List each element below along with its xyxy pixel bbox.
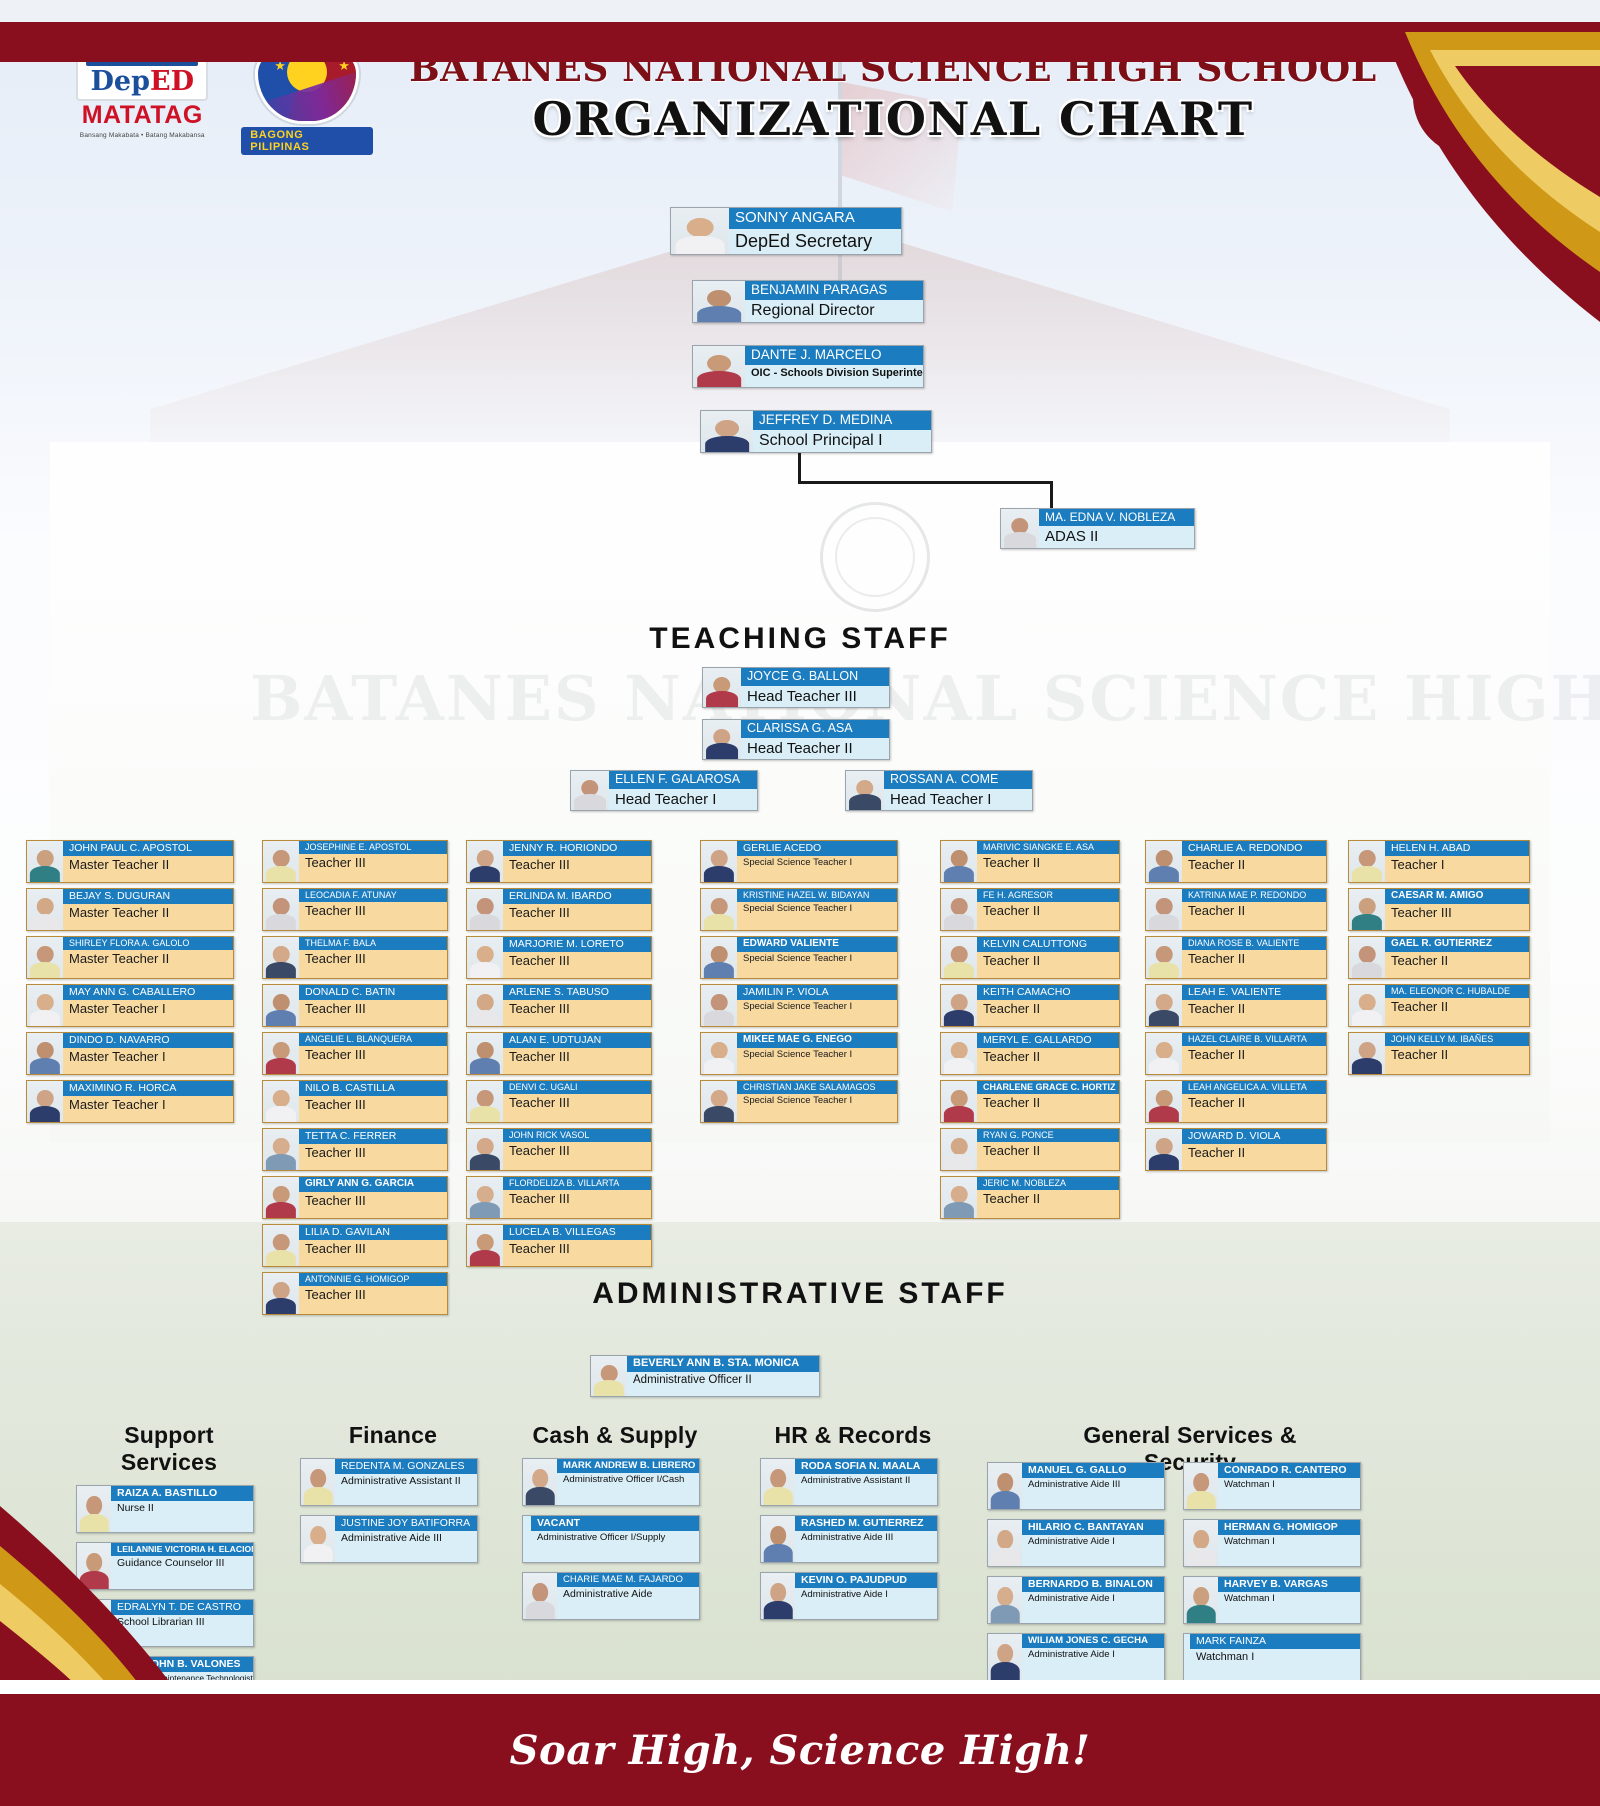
admin-card[interactable]: MARK ANDREW B. LIBRERO Administrative Of…: [522, 1458, 700, 1506]
node-name: KATRINA MAE P. REDONDO: [1182, 889, 1326, 902]
avatar: [263, 1081, 299, 1122]
node-role: Teacher II: [1182, 902, 1326, 921]
admin-card-vacant[interactable]: VACANT Administrative Officer I/Supply: [522, 1515, 700, 1563]
matatag-tagline: Bansang Makabata • Batang Makabansa: [80, 132, 205, 139]
node-name: BEVERLY ANN B. STA. MONICA: [627, 1356, 819, 1372]
node-role: OIC - Schools Division Superintendent: [745, 365, 923, 381]
avatar: [693, 281, 745, 322]
avatar: [701, 411, 753, 452]
admin-card[interactable]: WILIAM JONES C. GECHA Administrative Aid…: [987, 1633, 1165, 1681]
avatar: [941, 841, 977, 882]
node-role: Teacher II: [1182, 1000, 1326, 1019]
node-role: Head Teacher I: [884, 789, 1032, 810]
node-role: School Librarian III: [111, 1615, 253, 1631]
node-name: MERYL E. GALLARDO: [977, 1033, 1119, 1048]
avatar: [1146, 1033, 1182, 1074]
node-role: Administrative Aide I: [1022, 1592, 1164, 1606]
org-node-adas-ii[interactable]: MA. EDNA V. NOBLEZA ADAS II: [1000, 508, 1195, 549]
node-role: Teacher II: [977, 952, 1119, 971]
avatar: [27, 1033, 63, 1074]
teacher-card[interactable]: BEJAY S. DUGURAN Master Teacher II: [26, 888, 234, 931]
node-role: Teacher III: [299, 1096, 447, 1115]
node-name: DENVI C. UGALI: [503, 1081, 651, 1094]
node-role: Teacher II: [977, 854, 1119, 873]
node-role: School Principal I: [753, 430, 931, 452]
node-name: HELEN H. ABAD: [1385, 841, 1529, 856]
org-node-school-principal[interactable]: JEFFREY D. MEDINA School Principal I: [700, 410, 932, 453]
teacher-card[interactable]: DENVI C. UGALI Teacher III: [466, 1080, 652, 1123]
group-title: Cash & Supply: [522, 1422, 708, 1449]
node-name: KRISTINE HAZEL W. BIDAYAN: [737, 889, 897, 902]
node-role: Teacher III: [299, 902, 447, 921]
node-name: ERLINDA M. IBARDO: [503, 889, 651, 904]
avatar: [988, 1520, 1022, 1566]
node-name: JOHN PAUL C. APOSTOL: [63, 841, 233, 856]
node-name: JENNY R. HORIONDO: [503, 841, 651, 856]
admin-group-hr-records: HR & Records RODA SOFIA N. MAALA Adminis…: [760, 1422, 946, 1620]
avatar: [467, 841, 503, 882]
avatar: [523, 1573, 557, 1619]
admin-group-general-services-col1: MANUEL G. GALLO Administrative Aide III …: [987, 1462, 1173, 1681]
top-ribbon-bar: [0, 22, 1600, 62]
node-role: Teacher III: [299, 1144, 447, 1163]
teacher-card[interactable]: KEITH CAMACHO Teacher II: [940, 984, 1120, 1027]
avatar: [27, 985, 63, 1026]
header-titles: BATANES NATIONAL SCIENCE HIGH SCHOOL ORG…: [399, 48, 1386, 146]
node-name: MARIVIC SIANGKE E. ASA: [977, 841, 1119, 854]
avatar: [846, 771, 884, 810]
node-name: ERIC JOHN B. VALONES: [111, 1657, 253, 1672]
avatar: [27, 889, 63, 930]
node-role: Teacher III: [299, 1046, 447, 1065]
node-role: DepEd Secretary: [729, 229, 901, 254]
avatar: [701, 985, 737, 1026]
teacher-column-teacher-iii-a: JOSEPHINE E. APOSTOL Teacher III LEOCADI…: [262, 840, 448, 1315]
teacher-card[interactable]: MERYL E. GALLARDO Teacher II: [940, 1032, 1120, 1075]
node-name: HERMAN G. HOMIGOP: [1218, 1520, 1360, 1535]
node-name: TETTA C. FERRER: [299, 1129, 447, 1144]
node-role: Master Teacher I: [63, 1096, 233, 1115]
node-name: JEFFREY D. MEDINA: [753, 411, 931, 430]
org-node-administrative-officer-ii[interactable]: BEVERLY ANN B. STA. MONICA Administrativ…: [590, 1355, 820, 1397]
node-role: Teacher III: [299, 854, 447, 873]
connector-principal-vertical: [798, 453, 801, 483]
node-name: CAESAR M. AMIGO: [1385, 889, 1529, 904]
node-role: Teacher II: [1182, 1046, 1326, 1065]
avatar: [701, 889, 737, 930]
node-role: Teacher III: [503, 856, 651, 875]
avatar: [1184, 1520, 1218, 1566]
avatar: [701, 937, 737, 978]
teacher-card[interactable]: JOSEPHINE E. APOSTOL Teacher III: [262, 840, 448, 883]
node-name: CHRISTIAN JAKE SALAMAGOS: [737, 1081, 897, 1094]
teacher-card[interactable]: ARLENE S. TABUSO Teacher III: [466, 984, 652, 1027]
node-role: Master Teacher II: [63, 950, 233, 969]
admin-card[interactable]: RAIZA A. BASTILLO Nurse II: [76, 1485, 254, 1533]
teacher-card[interactable]: JOHN RICK VASOL Teacher III: [466, 1128, 652, 1171]
node-role: Watchman I: [1190, 1649, 1360, 1665]
page-title: ORGANIZATIONAL CHART: [409, 92, 1376, 146]
admin-card[interactable]: MANUEL G. GALLO Administrative Aide III: [987, 1462, 1165, 1510]
avatar: [77, 1543, 111, 1589]
avatar: [263, 937, 299, 978]
node-role: Administrative Assistant II: [795, 1474, 937, 1488]
bagong-pilipinas-label: BAGONG PILIPINAS: [241, 127, 373, 155]
avatar: [467, 1177, 503, 1218]
node-role: Administrative Aide I: [1022, 1535, 1164, 1549]
teacher-card[interactable]: ALAN E. UDTUJAN Teacher III: [466, 1032, 652, 1075]
teacher-card[interactable]: CHARLIE A. REDONDO Teacher II: [1145, 840, 1327, 883]
teacher-column-teacher-iii-b: JENNY R. HORIONDO Teacher III ERLINDA M.…: [466, 840, 652, 1267]
teacher-card[interactable]: TETTA C. FERRER Teacher III: [262, 1128, 448, 1171]
teacher-card[interactable]: MIKEE MAE G. ENEGO Special Science Teach…: [700, 1032, 898, 1075]
node-name: SHIRLEY FLORA A. GALOLO: [63, 937, 233, 950]
node-name: RASHED M. GUTIERREZ: [795, 1516, 937, 1531]
node-name: JAMILIN P. VIOLA: [737, 985, 897, 1000]
teacher-card[interactable]: CHARLENE GRACE C. HORTIZ Teacher II: [940, 1080, 1120, 1123]
node-name: EDRALYN T. DE CASTRO: [111, 1600, 253, 1615]
teacher-card[interactable]: THELMA F. BALA Teacher III: [262, 936, 448, 979]
avatar: [263, 889, 299, 930]
node-role: Regional Director: [745, 300, 923, 322]
org-node-head-teacher-i-come[interactable]: ROSSAN A. COME Head Teacher I: [845, 770, 1033, 811]
avatar: [1001, 509, 1039, 548]
teacher-card[interactable]: MA. ELEONOR C. HUBALDE Teacher II: [1348, 984, 1530, 1027]
node-role: Special Science Teacher I: [737, 1000, 897, 1014]
teacher-card[interactable]: GIRLY ANN G. GARCIA Teacher III: [262, 1176, 448, 1219]
node-role: Administrative Officer II: [627, 1372, 819, 1389]
avatar: [523, 1459, 557, 1505]
node-name: MARK ANDREW B. LIBRERO: [557, 1459, 699, 1473]
avatar: [263, 1033, 299, 1074]
teacher-card[interactable]: KATRINA MAE P. REDONDO Teacher II: [1145, 888, 1327, 931]
node-role: Administrative Aide III: [1022, 1478, 1164, 1492]
admin-card[interactable]: HARVEY B. VARGAS Watchman I: [1183, 1576, 1361, 1624]
teacher-card[interactable]: HELEN H. ABAD Teacher I: [1348, 840, 1530, 883]
node-name: LUCELA B. VILLEGAS: [503, 1225, 651, 1240]
administrative-staff-section-title: ADMINISTRATIVE STAFF: [0, 1277, 1600, 1311]
teacher-card[interactable]: MARJORIE M. LORETO Teacher III: [466, 936, 652, 979]
school-motto: Soar High, Science High!: [510, 1727, 1091, 1774]
node-role: Administrative Aide: [557, 1587, 699, 1603]
avatar: [1146, 889, 1182, 930]
node-role: Teacher III: [503, 1048, 651, 1067]
node-role: Special Science Teacher I: [737, 856, 897, 870]
footer-white-strip: [0, 1680, 1600, 1694]
teacher-card[interactable]: JENNY R. HORIONDO Teacher III: [466, 840, 652, 883]
node-name: DANTE J. MARCELO: [745, 346, 923, 365]
teacher-card[interactable]: CAESAR M. AMIGO Teacher III: [1348, 888, 1530, 931]
teacher-card[interactable]: JOHN KELLY M. IBAÑES Teacher II: [1348, 1032, 1530, 1075]
teacher-card[interactable]: SHIRLEY FLORA A. GALOLO Master Teacher I…: [26, 936, 234, 979]
teacher-card[interactable]: FLORDELIZA B. VILLARTA Teacher III: [466, 1176, 652, 1219]
org-node-head-teacher-ii[interactable]: CLARISSA G. ASA Head Teacher II: [702, 719, 890, 760]
node-name: KEITH CAMACHO: [977, 985, 1119, 1000]
node-name: JOWARD D. VIOLA: [1182, 1129, 1326, 1144]
node-name: HARVEY B. VARGAS: [1218, 1577, 1360, 1592]
node-name: NILO B. CASTILLA: [299, 1081, 447, 1096]
teacher-column-teacher-ii-b: CHARLIE A. REDONDO Teacher II KATRINA MA…: [1145, 840, 1327, 1171]
node-name: DINDO D. NAVARRO: [63, 1033, 233, 1048]
node-role: Head Teacher III: [741, 686, 889, 707]
node-name: HAZEL CLAIRE B. VILLARTA: [1182, 1033, 1326, 1046]
admin-card[interactable]: KEVIN O. PAJUDPUD Administrative Aide I: [760, 1572, 938, 1620]
node-name: JERIC M. NOBLEZA: [977, 1177, 1119, 1190]
avatar: [941, 1129, 977, 1170]
background-seal-watermark: [820, 502, 930, 612]
admin-card[interactable]: HILARIO C. BANTAYAN Administrative Aide …: [987, 1519, 1165, 1567]
avatar: [671, 208, 729, 254]
deped-logo-dep-text: Dep: [91, 66, 150, 97]
group-title: HR & Records: [760, 1422, 946, 1449]
avatar: [467, 1033, 503, 1074]
node-name: DONALD C. BATIN: [299, 985, 447, 1000]
node-name: MA. EDNA V. NOBLEZA: [1039, 509, 1194, 526]
node-role: Teacher III: [503, 1094, 651, 1113]
teacher-column-master-teachers: JOHN PAUL C. APOSTOL Master Teacher II B…: [26, 840, 234, 1123]
node-role: Administrative Assistant II: [335, 1474, 477, 1490]
node-name: ALAN E. UDTUJAN: [503, 1033, 651, 1048]
node-name: BERNARDO B. BINALON: [1022, 1577, 1164, 1592]
admin-card[interactable]: RASHED M. GUTIERREZ Administrative Aide …: [760, 1515, 938, 1563]
node-role: ADAS II: [1039, 526, 1194, 548]
teacher-card[interactable]: JOWARD D. VIOLA Teacher II: [1145, 1128, 1327, 1171]
node-name: JOHN RICK VASOL: [503, 1129, 651, 1142]
teacher-card[interactable]: LEAH ANGELICA A. VILLETA Teacher II: [1145, 1080, 1327, 1123]
teacher-card[interactable]: KELVIN CALUTTONG Teacher II: [940, 936, 1120, 979]
teacher-card[interactable]: ERLINDA M. IBARDO Teacher III: [466, 888, 652, 931]
node-name: CHARIE MAE M. FAJARDO: [557, 1573, 699, 1587]
node-name: KELVIN CALUTTONG: [977, 937, 1119, 952]
teacher-card[interactable]: HAZEL CLAIRE B. VILLARTA Teacher II: [1145, 1032, 1327, 1075]
avatar: [701, 1081, 737, 1122]
teacher-card[interactable]: LEOCADIA F. ATUNAY Teacher III: [262, 888, 448, 931]
node-role: Administrative Officer I/Supply: [531, 1531, 699, 1545]
node-role: Master Teacher II: [63, 904, 233, 923]
node-role: Teacher II: [1182, 950, 1326, 969]
node-role: Teacher II: [1385, 998, 1529, 1017]
admin-card[interactable]: CHARIE MAE M. FAJARDO Administrative Aid…: [522, 1572, 700, 1620]
node-name: RAIZA A. BASTILLO: [111, 1486, 253, 1501]
teacher-card[interactable]: MAXIMINO R. HORCA Master Teacher I: [26, 1080, 234, 1123]
connector-principal-horizontal: [798, 481, 1053, 484]
avatar: [941, 985, 977, 1026]
node-role: Master Teacher I: [63, 1000, 233, 1019]
node-name: ELLEN F. GALAROSA: [609, 771, 757, 789]
avatar: [761, 1516, 795, 1562]
node-name: HILARIO C. BANTAYAN: [1022, 1520, 1164, 1535]
teacher-card[interactable]: GERLIE ACEDO Special Science Teacher I: [700, 840, 898, 883]
node-role: Administrative Aide III: [795, 1531, 937, 1545]
avatar: [1349, 937, 1385, 978]
admin-card[interactable]: JUSTINE JOY BATIFORRA Administrative Aid…: [300, 1515, 478, 1563]
org-node-head-teacher-iii[interactable]: JOYCE G. BALLON Head Teacher III: [702, 667, 890, 708]
teacher-card[interactable]: RYAN G. PONCE Teacher II: [940, 1128, 1120, 1171]
node-role: Teacher III: [299, 1240, 447, 1259]
node-name: MAXIMINO R. HORCA: [63, 1081, 233, 1096]
avatar: [1349, 1033, 1385, 1074]
node-name: ANGELIE L. BLANQUERA: [299, 1033, 447, 1046]
teacher-card[interactable]: CHRISTIAN JAKE SALAMAGOS Special Science…: [700, 1080, 898, 1123]
avatar: [263, 1129, 299, 1170]
node-name: FLORDELIZA B. VILLARTA: [503, 1177, 651, 1190]
node-role: Teacher III: [299, 1192, 447, 1211]
avatar: [263, 985, 299, 1026]
avatar: [27, 841, 63, 882]
teacher-card[interactable]: LEAH E. VALIENTE Teacher II: [1145, 984, 1327, 1027]
teacher-card[interactable]: LILIA D. GAVILAN Teacher III: [262, 1224, 448, 1267]
node-name: REDENTA M. GONZALES: [335, 1459, 477, 1474]
node-name: LILIA D. GAVILAN: [299, 1225, 447, 1240]
admin-card[interactable]: CONRADO R. CANTERO Watchman I: [1183, 1462, 1361, 1510]
group-title: Support Services: [76, 1422, 262, 1476]
node-name: JOHN KELLY M. IBAÑES: [1385, 1033, 1529, 1046]
admin-card[interactable]: BERNARDO B. BINALON Administrative Aide …: [987, 1576, 1165, 1624]
admin-card[interactable]: EDRALYN T. DE CASTRO School Librarian II…: [76, 1599, 254, 1647]
teacher-card[interactable]: MAY ANN G. CABALLERO Master Teacher I: [26, 984, 234, 1027]
avatar: [301, 1516, 335, 1562]
node-name: VACANT: [531, 1516, 699, 1531]
node-name: ROSSAN A. COME: [884, 771, 1032, 789]
teacher-card[interactable]: DIANA ROSE B. VALIENTE Teacher II: [1145, 936, 1327, 979]
node-role: Watchman I: [1218, 1592, 1360, 1606]
teacher-card[interactable]: FE H. AGRESOR Teacher II: [940, 888, 1120, 931]
node-name: MA. ELEONOR C. HUBALDE: [1385, 985, 1529, 998]
node-role: Watchman I: [1218, 1478, 1360, 1492]
avatar: [77, 1600, 111, 1646]
avatar: [467, 889, 503, 930]
teacher-column-teacher-ii-a: MARIVIC SIANGKE E. ASA Teacher II FE H. …: [940, 840, 1120, 1219]
org-node-schools-division-superintendent[interactable]: DANTE J. MARCELO OIC - Schools Division …: [692, 345, 924, 388]
teacher-card[interactable]: KRISTINE HAZEL W. BIDAYAN Special Scienc…: [700, 888, 898, 931]
node-name: BEJAY S. DUGURAN: [63, 889, 233, 904]
node-role: Teacher III: [503, 952, 651, 971]
admin-group-support-services: Support Services RAIZA A. BASTILLO Nurse…: [76, 1422, 262, 1704]
node-name: MARK FAINZA: [1190, 1634, 1360, 1649]
node-name: EDWARD VALIENTE: [737, 937, 897, 952]
node-role: Teacher III: [503, 904, 651, 923]
teacher-card[interactable]: JAMILIN P. VIOLA Special Science Teacher…: [700, 984, 898, 1027]
matatag-label: MATATAG: [82, 103, 203, 128]
node-name: LEOCADIA F. ATUNAY: [299, 889, 447, 902]
avatar: [467, 937, 503, 978]
teacher-card[interactable]: JERIC M. NOBLEZA Teacher II: [940, 1176, 1120, 1219]
connector-adas-vertical: [1050, 481, 1053, 508]
node-name: LEAH E. VALIENTE: [1182, 985, 1326, 1000]
node-name: RYAN G. PONCE: [977, 1129, 1119, 1142]
avatar: [571, 771, 609, 810]
node-role: Special Science Teacher I: [737, 1048, 897, 1062]
node-name: THELMA F. BALA: [299, 937, 447, 950]
admin-card[interactable]: HERMAN G. HOMIGOP Watchman I: [1183, 1519, 1361, 1567]
avatar: [1349, 841, 1385, 882]
avatar: [703, 668, 741, 707]
node-role: Administrative Aide I: [795, 1588, 937, 1602]
node-name: BENJAMIN PARAGAS: [745, 281, 923, 300]
teacher-card[interactable]: ANGELIE L. BLANQUERA Teacher III: [262, 1032, 448, 1075]
node-name: LEILANNIE VICTORIA H. ELACION: [111, 1543, 253, 1556]
node-name: KEVIN O. PAJUDPUD: [795, 1573, 937, 1588]
node-name: JUSTINE JOY BATIFORRA: [335, 1516, 477, 1531]
teacher-card[interactable]: EDWARD VALIENTE Special Science Teacher …: [700, 936, 898, 979]
avatar: [77, 1486, 111, 1532]
node-name: MIKEE MAE G. ENEGO: [737, 1033, 897, 1048]
avatar: [467, 985, 503, 1026]
avatar: [941, 937, 977, 978]
admin-group-cash-supply: Cash & Supply MARK ANDREW B. LIBRERO Adm…: [522, 1422, 708, 1620]
avatar: [263, 1225, 299, 1266]
node-name: JOYCE G. BALLON: [741, 668, 889, 686]
teacher-card[interactable]: JOHN PAUL C. APOSTOL Master Teacher II: [26, 840, 234, 883]
node-role: Teacher II: [977, 1000, 1119, 1019]
org-node-regional-director[interactable]: BENJAMIN PARAGAS Regional Director: [692, 280, 924, 323]
node-role: Teacher II: [977, 1142, 1119, 1161]
avatar: [1184, 1463, 1218, 1509]
avatar: [941, 1033, 977, 1074]
avatar: [1349, 889, 1385, 930]
teaching-staff-section-title: TEACHING STAFF: [0, 622, 1600, 656]
teacher-card[interactable]: DONALD C. BATIN Teacher III: [262, 984, 448, 1027]
avatar: [941, 889, 977, 930]
admin-card[interactable]: REDENTA M. GONZALES Administrative Assis…: [300, 1458, 478, 1506]
avatar: [467, 1081, 503, 1122]
deped-logo-ed-text: ED: [150, 66, 194, 97]
node-name: CLARISSA G. ASA: [741, 720, 889, 738]
node-name: JOSEPHINE E. APOSTOL: [299, 841, 447, 854]
node-role: Special Science Teacher I: [737, 1094, 897, 1108]
node-role: Guidance Counselor III: [111, 1556, 253, 1572]
avatar: [263, 1177, 299, 1218]
node-name: DIANA ROSE B. VALIENTE: [1182, 937, 1326, 950]
node-name: MARJORIE M. LORETO: [503, 937, 651, 952]
teacher-card[interactable]: LUCELA B. VILLEGAS Teacher III: [466, 1224, 652, 1267]
avatar: [1146, 1081, 1182, 1122]
node-name: GAEL R. GUTIERREZ: [1385, 937, 1529, 952]
avatar: [761, 1459, 795, 1505]
admin-card[interactable]: MARK FAINZA Watchman I: [1183, 1633, 1361, 1681]
node-name: MAY ANN G. CABALLERO: [63, 985, 233, 1000]
admin-card[interactable]: LEILANNIE VICTORIA H. ELACION Guidance C…: [76, 1542, 254, 1590]
teacher-card[interactable]: NILO B. CASTILLA Teacher III: [262, 1080, 448, 1123]
node-name: CONRADO R. CANTERO: [1218, 1463, 1360, 1478]
avatar: [701, 1033, 737, 1074]
node-role: Teacher III: [503, 1142, 651, 1161]
node-role: Administrative Aide I: [1022, 1648, 1164, 1662]
node-role: Teacher II: [1182, 1144, 1326, 1163]
admin-group-finance: Finance REDENTA M. GONZALES Administrati…: [300, 1422, 486, 1563]
node-name: MANUEL G. GALLO: [1022, 1463, 1164, 1478]
node-name: WILIAM JONES C. GECHA: [1022, 1634, 1164, 1648]
admin-card[interactable]: RODA SOFIA N. MAALA Administrative Assis…: [760, 1458, 938, 1506]
org-node-deped-secretary[interactable]: SONNY ANGARA DepEd Secretary: [670, 207, 902, 255]
teacher-card[interactable]: MARIVIC SIANGKE E. ASA Teacher II: [940, 840, 1120, 883]
node-role: Teacher III: [1385, 904, 1529, 923]
teacher-card[interactable]: DINDO D. NAVARRO Master Teacher I: [26, 1032, 234, 1075]
node-name: GERLIE ACEDO: [737, 841, 897, 856]
node-name: CHARLIE A. REDONDO: [1182, 841, 1326, 856]
org-node-head-teacher-i-galarosa[interactable]: ELLEN F. GALAROSA Head Teacher I: [570, 770, 758, 811]
node-role: Watchman I: [1218, 1535, 1360, 1549]
node-role: Teacher II: [977, 1048, 1119, 1067]
node-role: Teacher III: [299, 1000, 447, 1019]
node-role: Teacher III: [503, 1190, 651, 1209]
avatar: [591, 1356, 627, 1396]
node-role: Teacher III: [299, 950, 447, 969]
avatar: [467, 1129, 503, 1170]
avatar: [301, 1459, 335, 1505]
group-title: Finance: [300, 1422, 486, 1449]
teacher-card[interactable]: GAEL R. GUTIERREZ Teacher II: [1348, 936, 1530, 979]
